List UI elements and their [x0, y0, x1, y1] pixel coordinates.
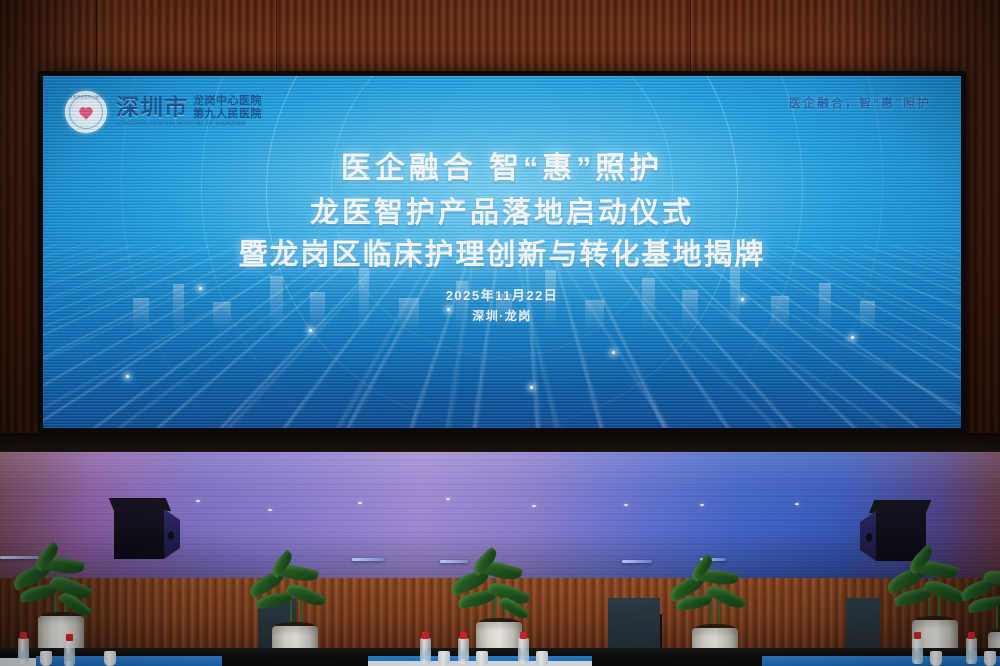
- bottle-cap: [968, 632, 975, 639]
- hospital-logo-texts: 深圳市 龙岗中心医院 第九人民医院 LONGGANG CENTRAL HOSPI…: [116, 96, 262, 127]
- floor-light-speck: [196, 500, 200, 502]
- bottle-cap: [520, 632, 527, 639]
- led-screen: 深圳市龙岗中心医院 深圳市 龙岗中心医院 第九人民医院 LONGGANG CEN…: [43, 76, 961, 428]
- bottle-label: [912, 651, 923, 659]
- water-bottle: [64, 640, 75, 666]
- water-bottle: [912, 638, 923, 664]
- hospital-logo: 深圳市龙岗中心医院 深圳市 龙岗中心医院 第九人民医院 LONGGANG CEN…: [65, 91, 262, 133]
- floor-light-speck: [358, 502, 362, 504]
- water-bottle: [458, 638, 469, 664]
- floor-marker-tape: [622, 560, 652, 563]
- paper-cup: [930, 651, 942, 666]
- hospital-seal-icon: 深圳市龙岗中心医院: [65, 91, 107, 133]
- paper-cup: [40, 651, 52, 666]
- water-bottle: [966, 638, 977, 664]
- event-title-line1: 医企融合 智“惠”照护: [43, 150, 961, 188]
- seal-arc-text: 深圳市龙岗中心医院: [66, 96, 106, 99]
- bottle-label: [18, 651, 29, 659]
- water-bottle: [518, 638, 529, 664]
- glow-particle-icon: [126, 375, 129, 378]
- bottle-cap: [460, 632, 467, 639]
- hospital-name-english: LONGGANG CENTRAL HOSPITAL OF SHENZHEN: [116, 122, 262, 127]
- top-right-slogan: 医企融合，智“惠”照护: [789, 94, 931, 111]
- floor-marker-tape: [352, 558, 384, 561]
- event-title-line3: 暨龙岗区临床护理创新与转化基地揭牌: [43, 237, 961, 273]
- stage-monitor-left: [114, 498, 178, 560]
- paper-cup: [476, 651, 488, 666]
- event-place: 深圳·龙岗: [43, 307, 961, 324]
- heart-icon: [80, 109, 91, 120]
- event-title-line2: 龙医智护产品落地启动仪式: [43, 195, 961, 231]
- bottle-label: [458, 651, 469, 659]
- hospital-name-line1: 龙岗中心医院: [193, 96, 262, 108]
- bottle-cap: [422, 632, 429, 639]
- table-runner: [762, 656, 1000, 666]
- stage-photo: 深圳市龙岗中心医院 深圳市 龙岗中心医院 第九人民医院 LONGGANG CEN…: [0, 0, 1000, 666]
- bottle-cap: [20, 632, 27, 639]
- floor-light-speck: [700, 504, 704, 506]
- bottle-label: [966, 651, 977, 659]
- bottle-cap: [914, 632, 921, 639]
- floor-light-speck: [268, 509, 272, 511]
- hospital-name-line2: 第九人民医院: [193, 109, 262, 121]
- hospital-city-name: 深圳市: [116, 96, 188, 119]
- paper-cup: [536, 651, 548, 666]
- bottle-label: [420, 651, 431, 659]
- table-runner: [118, 656, 222, 666]
- paper-cup: [438, 651, 450, 666]
- bottle-label: [64, 653, 75, 661]
- bottle-cap: [66, 634, 73, 641]
- led-screen-bezel: 深圳市龙岗中心医院 深圳市 龙岗中心医院 第九人民医院 LONGGANG CEN…: [38, 71, 966, 433]
- event-date: 2025年11月22日: [43, 285, 961, 304]
- floor-light-speck: [446, 498, 450, 500]
- water-bottle: [420, 638, 431, 664]
- event-title-group: 医企融合 智“惠”照护 龙医智护产品落地启动仪式 暨龙岗区临床护理创新与转化基地…: [43, 150, 961, 324]
- glow-particle-icon: [612, 351, 615, 354]
- water-bottle: [18, 638, 29, 664]
- glow-particle-icon: [530, 386, 533, 389]
- floor-light-speck: [532, 505, 536, 507]
- floor-light-speck: [624, 504, 628, 506]
- bottle-label: [518, 651, 529, 659]
- paper-cup: [984, 651, 996, 666]
- floor-light-speck: [795, 503, 799, 505]
- paper-cup: [104, 651, 116, 666]
